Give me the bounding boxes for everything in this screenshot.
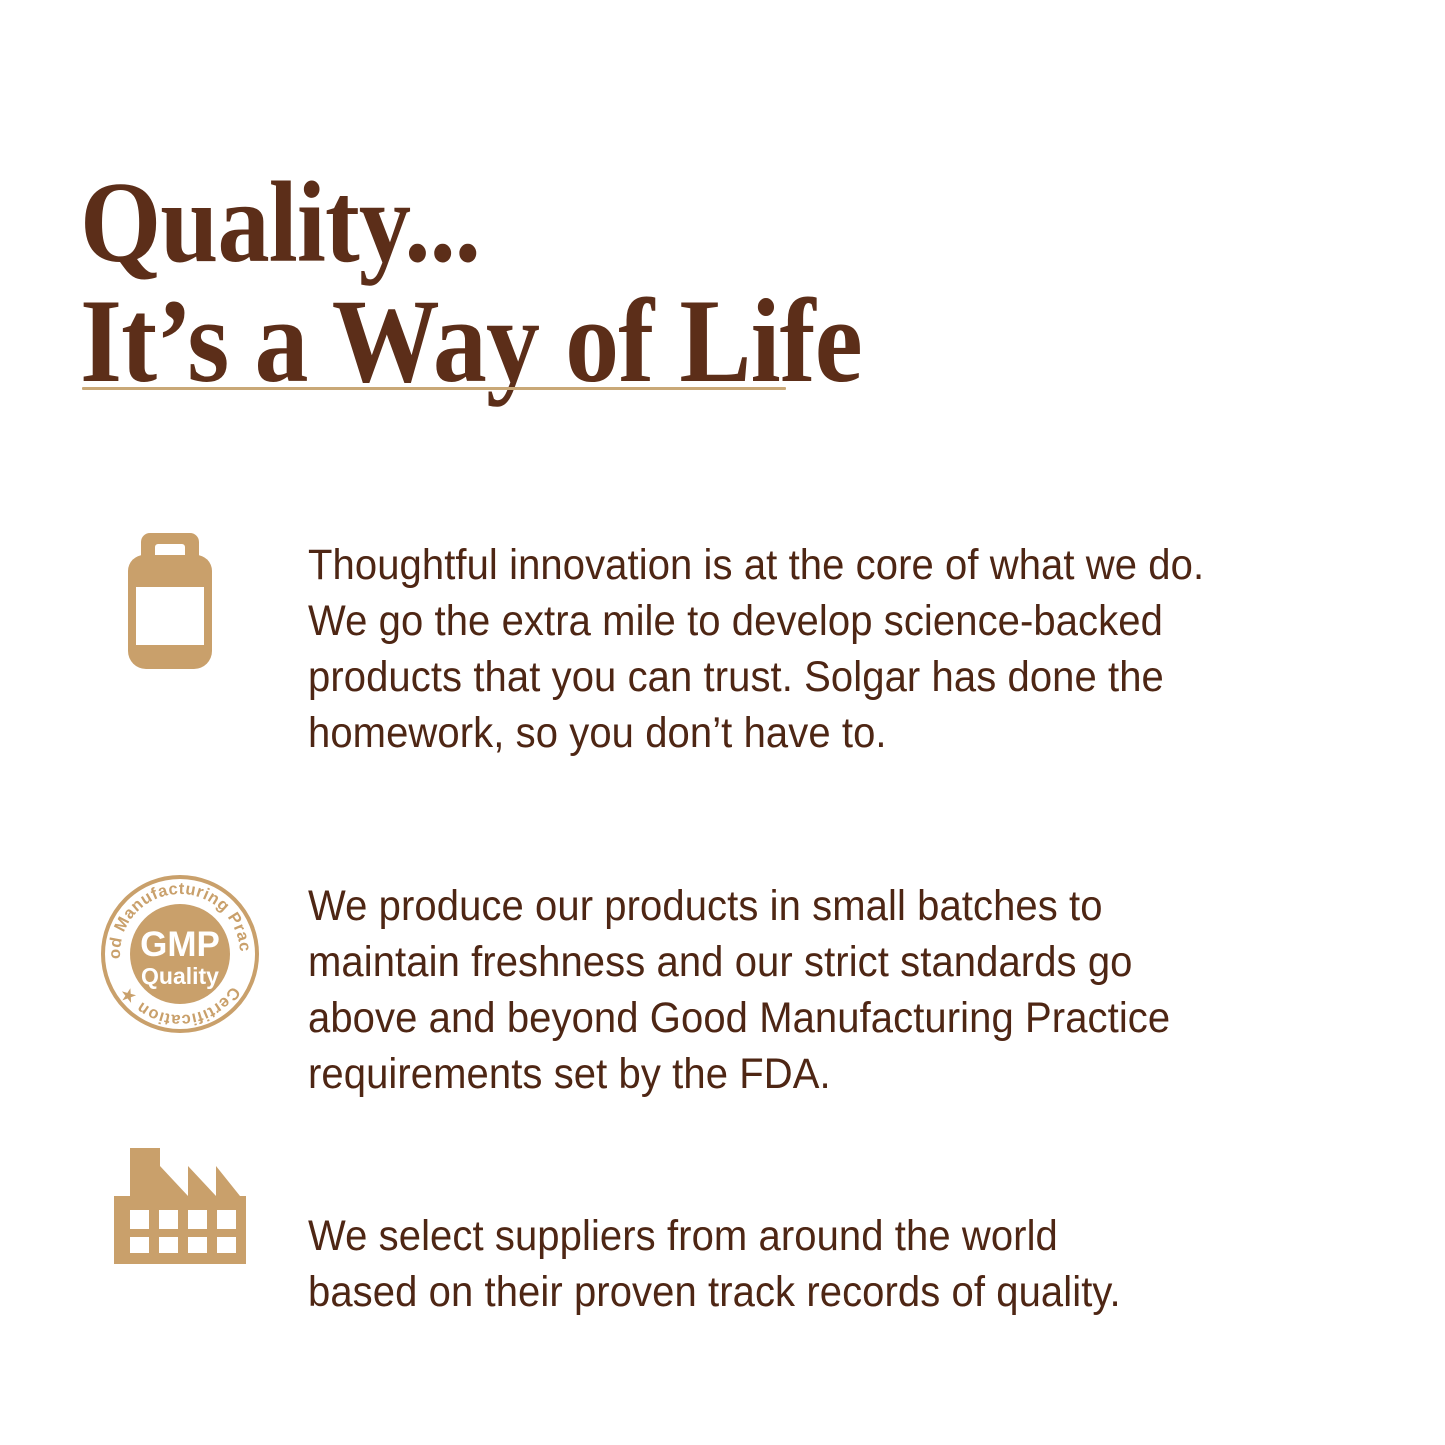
- factory-icon: [114, 1148, 246, 1264]
- page-title: Quality... It’s a Way of Life: [80, 164, 980, 400]
- supplement-bottle-icon: [128, 533, 212, 669]
- title-divider: [82, 387, 786, 390]
- svg-text:GMP: GMP: [140, 925, 220, 964]
- section-3-text: We select suppliers from around the worl…: [308, 1208, 1350, 1320]
- section-2-text: We produce our products in small batches…: [308, 878, 1350, 1102]
- section-1-text: Thoughtful innovation is at the core of …: [308, 537, 1350, 761]
- gmp-quality-seal-icon: Good Manufacturing Practice Certificatio…: [100, 874, 260, 1034]
- quality-way-of-life-page: Quality... It’s a Way of Life Thoughtful…: [0, 0, 1445, 1445]
- page-title-line-2: It’s a Way of Life: [80, 282, 980, 400]
- svg-text:Quality: Quality: [141, 963, 219, 989]
- page-title-line-1: Quality...: [80, 164, 980, 282]
